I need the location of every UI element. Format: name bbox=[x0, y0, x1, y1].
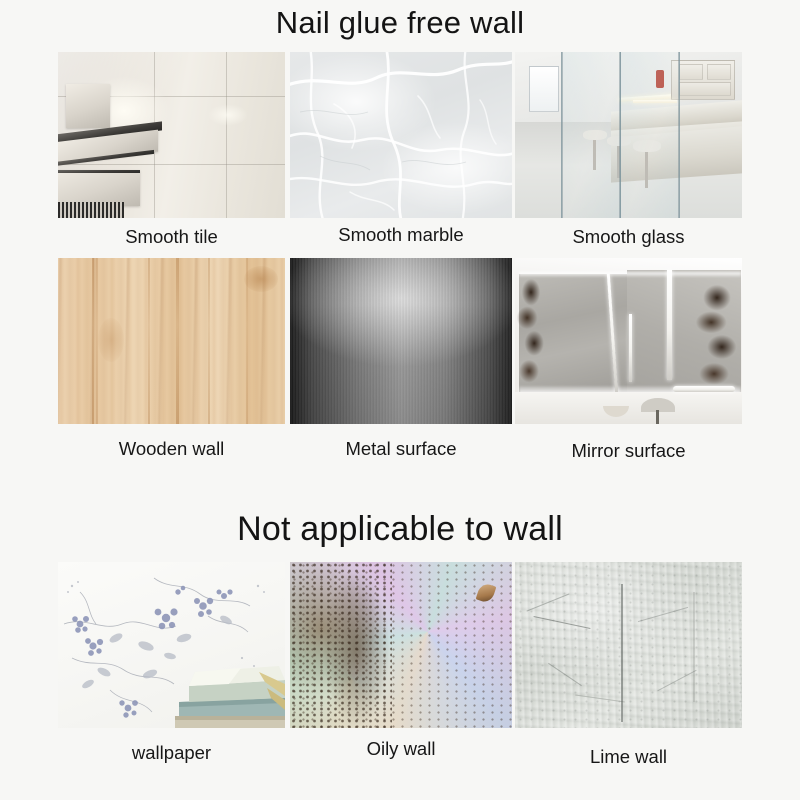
caption-smooth-tile: Smooth tile bbox=[58, 226, 285, 248]
folded-linens bbox=[175, 662, 285, 728]
backlit-mirror-photo bbox=[515, 258, 742, 424]
caption-wallpaper: wallpaper bbox=[58, 742, 285, 764]
sample-image-wooden-wall bbox=[58, 258, 285, 424]
sample-image-metal-surface bbox=[290, 258, 512, 424]
sample-image-smooth-marble bbox=[290, 52, 512, 218]
caption-lime-wall: Lime wall bbox=[515, 746, 742, 768]
ceramic-tile-kitchen-photo bbox=[58, 52, 285, 218]
infographic-page: Nail glue free wall bbox=[0, 0, 800, 800]
section-title-applicable: Nail glue free wall bbox=[0, 4, 800, 42]
caption-oily-wall: Oily wall bbox=[290, 738, 512, 760]
sample-image-oily-wall bbox=[290, 562, 512, 728]
caption-wooden-wall: Wooden wall bbox=[58, 438, 285, 460]
sample-image-lime-wall bbox=[515, 562, 742, 728]
floral-wallpaper-photo bbox=[58, 562, 285, 728]
sample-image-mirror-surface bbox=[515, 258, 742, 424]
marble-slab-photo bbox=[290, 52, 512, 218]
caption-mirror-surface: Mirror surface bbox=[515, 440, 742, 462]
section-title-not-applicable: Not applicable to wall bbox=[0, 508, 800, 550]
caption-smooth-marble: Smooth marble bbox=[290, 224, 512, 246]
glass-partition-corridor-photo bbox=[515, 52, 742, 218]
sample-image-smooth-tile bbox=[58, 52, 285, 218]
caption-smooth-glass: Smooth glass bbox=[515, 226, 742, 248]
sample-image-smooth-glass bbox=[515, 52, 742, 218]
caption-metal-surface: Metal surface bbox=[290, 438, 512, 460]
sample-image-wallpaper bbox=[58, 562, 285, 728]
lime-plaster-wall-photo bbox=[515, 562, 742, 728]
brushed-metal-sheet-photo bbox=[290, 258, 512, 424]
oily-iridescent-wall-photo bbox=[290, 562, 512, 728]
wood-grain-panel-photo bbox=[58, 258, 285, 424]
marble-veining bbox=[290, 52, 512, 218]
